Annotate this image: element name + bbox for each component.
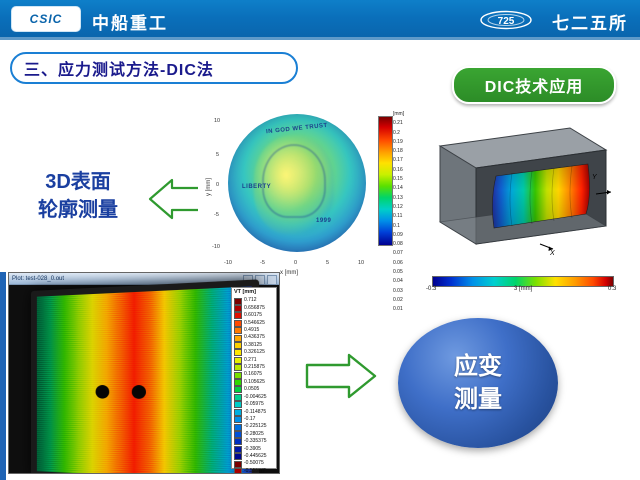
penny-heatmap-disc: IN GOD WE TRUST LIBERTY 1999 xyxy=(228,114,366,252)
vt-swatch xyxy=(234,401,242,408)
vt-swatch xyxy=(234,372,242,379)
vt-value: 0.712 xyxy=(244,297,257,304)
block-axis-y-label: Y xyxy=(592,174,597,181)
vt-legend-row: -0.225125 xyxy=(234,423,274,430)
block-cb-mid: 3 [mm] xyxy=(514,286,532,292)
penny-cb-tick-2: 0.19 xyxy=(393,138,419,147)
vt-value: 0.546625 xyxy=(244,320,265,327)
vt-value: -0.50075 xyxy=(244,460,264,467)
vt-legend-row: 0.4915 xyxy=(234,327,274,334)
penny-plot-area: IN GOD WE TRUST LIBERTY 1999 -10 -5 0 5 … xyxy=(222,110,370,258)
monitor-screen xyxy=(31,279,259,474)
penny-x-axis-label: x [mm] xyxy=(280,270,298,276)
vt-value: 0.656875 xyxy=(244,305,265,312)
left-accent-bar xyxy=(0,272,6,480)
penny-cb-tick-20: 0.01 xyxy=(393,305,419,314)
vt-swatch xyxy=(234,409,242,416)
penny-y-tick-1: 5 xyxy=(216,152,219,158)
slide-root: CSIC 中船重工 725 七二五所 三、应力测试方法-DIC法 DIC技术应用… xyxy=(0,0,640,480)
vt-value: -0.335375 xyxy=(244,438,267,445)
vt-legend-row: 0.215875 xyxy=(234,364,274,371)
vt-swatch xyxy=(234,453,242,460)
penny-y-tick-2: 0 xyxy=(216,182,219,188)
vt-legend-row: 0.105625 xyxy=(234,379,274,386)
surface-profile-label-line1: 3D表面 xyxy=(14,168,142,196)
vt-value: 0.436375 xyxy=(244,334,265,341)
vt-legend-row: 0.326125 xyxy=(234,349,274,356)
penny-colorbar-ticks: [mm] 0.21 0.2 0.19 0.18 0.17 0.16 0.15 0… xyxy=(393,110,419,252)
svg-text:725: 725 xyxy=(498,16,515,27)
penny-x-tick-4: 10 xyxy=(358,260,364,266)
vt-swatch xyxy=(234,386,242,393)
vt-legend-row: 0.16075 xyxy=(234,371,274,378)
vt-value: 0.326125 xyxy=(244,349,265,356)
vt-swatch xyxy=(234,305,242,312)
vt-legend-row: 0.60175 xyxy=(234,312,274,319)
penny-text-in-god-we-trust: IN GOD WE TRUST xyxy=(266,123,328,135)
vt-legend-row: -0.05975 xyxy=(234,401,274,408)
vt-swatch xyxy=(234,364,242,371)
penny-surface-figure: IN GOD WE TRUST LIBERTY 1999 -10 -5 0 5 … xyxy=(198,106,388,278)
csic-logo: CSIC xyxy=(12,7,80,31)
vt-value: -0.445625 xyxy=(244,453,267,460)
company-name-left: 中船重工 xyxy=(92,9,168,34)
specimen-hole-right xyxy=(132,385,146,399)
penny-cb-tick-8: 0.13 xyxy=(393,194,419,203)
vt-swatch xyxy=(234,342,242,349)
surface-profile-label-line2: 轮廓测量 xyxy=(14,196,142,224)
vt-swatch xyxy=(234,327,242,334)
right-arrow-icon xyxy=(305,352,377,400)
vt-value: 0.105625 xyxy=(244,379,265,386)
vt-swatch xyxy=(234,424,242,431)
vt-swatch xyxy=(234,349,242,356)
penny-cb-tick-17: 0.04 xyxy=(393,277,419,286)
penny-cb-tick-13: 0.08 xyxy=(393,240,419,249)
vt-value: 0.38125 xyxy=(244,342,262,349)
vt-value: 0.0505 xyxy=(244,386,259,393)
vt-legend-row: 0.656875 xyxy=(234,305,274,312)
vt-legend-title: VT [mm] xyxy=(234,289,274,296)
vt-legend-row: 0.271 xyxy=(234,357,274,364)
penny-cb-tick-9: 0.12 xyxy=(393,203,419,212)
vt-legend-row: 0.436375 xyxy=(234,334,274,341)
vt-value: -0.3905 xyxy=(244,446,261,453)
vt-legend-panel: VT [mm] 0.712 0.656875 0.60175 0.546625 … xyxy=(231,287,277,469)
vt-legend-row: 0.0505 xyxy=(234,386,274,393)
vt-value: 0.60175 xyxy=(244,312,262,319)
penny-cb-tick-6: 0.15 xyxy=(393,175,419,184)
penny-portrait-outline xyxy=(262,144,326,218)
penny-cb-tick-1: 0.2 xyxy=(393,129,419,138)
vt-legend-row: -0.3905 xyxy=(234,446,274,453)
vt-legend-row: -0.445625 xyxy=(234,453,274,460)
vt-swatch xyxy=(234,438,242,445)
vt-value: -0.114875 xyxy=(244,409,266,416)
vt-value: -0.004625 xyxy=(244,394,267,401)
vt-legend-row: -0.004625 xyxy=(234,394,274,401)
penny-cb-tick-18: 0.03 xyxy=(393,287,419,296)
dic-screen-photo: Plot: test-028_0.out VT [mm] 0.712 0.656… xyxy=(8,272,280,474)
surface-profile-label: 3D表面 轮廓测量 xyxy=(14,168,142,224)
vt-swatch xyxy=(234,379,242,386)
strain-measurement-line2: 测量 xyxy=(454,383,502,416)
penny-cb-tick-19: 0.02 xyxy=(393,296,419,305)
vt-swatch xyxy=(234,298,242,305)
725-institute-logo-icon: 725 xyxy=(480,10,532,30)
vt-legend-row: -0.335375 xyxy=(234,438,274,445)
vt-value: 0.4915 xyxy=(244,327,259,334)
specimen-hole-left xyxy=(96,385,110,399)
penny-x-tick-2: 0 xyxy=(294,260,297,266)
vt-swatch xyxy=(234,312,242,319)
penny-cb-tick-5: 0.16 xyxy=(393,166,419,175)
penny-y-axis-label: y [mm] xyxy=(206,178,212,196)
vt-legend-row: -0.28025 xyxy=(234,431,274,438)
penny-cb-unit: [mm] xyxy=(393,110,419,119)
penny-x-tick-1: -5 xyxy=(260,260,265,266)
vt-swatch xyxy=(234,416,242,423)
penny-cb-tick-14: 0.07 xyxy=(393,249,419,258)
vt-swatch xyxy=(234,320,242,327)
vt-legend-row: -0.114875 xyxy=(234,409,274,416)
vt-value: -0.28025 xyxy=(244,431,264,438)
vt-value: 0.215875 xyxy=(244,364,265,371)
vt-swatch xyxy=(234,335,242,342)
penny-text-liberty: LIBERTY xyxy=(242,184,271,190)
header-bar: CSIC 中船重工 725 七二五所 xyxy=(0,0,640,40)
block-3d-svg xyxy=(420,116,616,266)
vt-swatch xyxy=(234,461,242,468)
strain-measurement-text: 应变 测量 xyxy=(454,350,502,416)
vt-value: -0.555875 xyxy=(244,468,267,474)
block-axis-x-label: X xyxy=(550,250,555,257)
penny-cb-tick-12: 0.09 xyxy=(393,231,419,240)
strain-measurement-line1: 应变 xyxy=(454,350,502,383)
penny-cb-tick-7: 0.14 xyxy=(393,184,419,193)
penny-y-tick-4: -10 xyxy=(212,244,220,250)
vt-value: 0.16075 xyxy=(244,371,262,378)
section-title-text: 三、应力测试方法-DIC法 xyxy=(24,56,214,80)
penny-cb-tick-3: 0.18 xyxy=(393,147,419,156)
institute-name-right: 七二五所 xyxy=(552,9,628,34)
penny-cb-tick-16: 0.05 xyxy=(393,268,419,277)
vt-value: 0.271 xyxy=(244,357,257,364)
vt-legend-row: -0.50075 xyxy=(234,460,274,467)
vt-legend-row: -0.17 xyxy=(234,416,274,423)
vt-swatch xyxy=(234,431,242,438)
penny-cb-tick-10: 0.11 xyxy=(393,212,419,221)
vt-value: -0.05975 xyxy=(244,401,264,408)
penny-cb-tick-4: 0.17 xyxy=(393,156,419,165)
vt-legend-row: 0.546625 xyxy=(234,320,274,327)
penny-x-tick-3: 5 xyxy=(326,260,329,266)
vt-swatch xyxy=(234,394,242,401)
close-icon[interactable] xyxy=(267,275,277,285)
section-title-banner: 三、应力测试方法-DIC法 xyxy=(10,52,298,84)
vt-value: -0.17 xyxy=(244,416,255,423)
plot-window-title: Plot: test-028_0.out xyxy=(12,276,64,282)
vt-legend-row: 0.38125 xyxy=(234,342,274,349)
penny-y-tick-0: 10 xyxy=(214,118,220,124)
dic-application-badge: DIC技术应用 xyxy=(452,66,616,104)
vt-swatch xyxy=(234,468,242,474)
vt-legend-row: -0.555875 xyxy=(234,468,274,474)
vt-value: -0.225125 xyxy=(244,423,267,430)
penny-cb-tick-11: 0.1 xyxy=(393,222,419,231)
penny-x-tick-0: -10 xyxy=(224,260,232,266)
vt-legend-row: 0.712 xyxy=(234,297,274,304)
penny-colorbar xyxy=(378,116,393,246)
penny-cb-tick-15: 0.06 xyxy=(393,259,419,268)
penny-text-year: 1999 xyxy=(316,218,331,224)
dic-application-badge-text: DIC技术应用 xyxy=(485,73,584,97)
csic-logo-text: CSIC xyxy=(30,12,63,26)
penny-cb-tick-0: 0.21 xyxy=(393,119,419,128)
strain-measurement-ellipse: 应变 测量 xyxy=(398,318,558,448)
block-deformation-figure: Y X xyxy=(420,116,616,266)
block-colorbar-labels: -0.3 3 [mm] 0.3 xyxy=(426,286,622,298)
vt-swatch xyxy=(234,357,242,364)
strain-rainbow-field xyxy=(37,286,252,474)
block-cb-max: 0.3 xyxy=(608,286,616,292)
penny-y-tick-3: -5 xyxy=(214,212,219,218)
vt-swatch xyxy=(234,446,242,453)
block-cb-min: -0.3 xyxy=(426,286,436,292)
